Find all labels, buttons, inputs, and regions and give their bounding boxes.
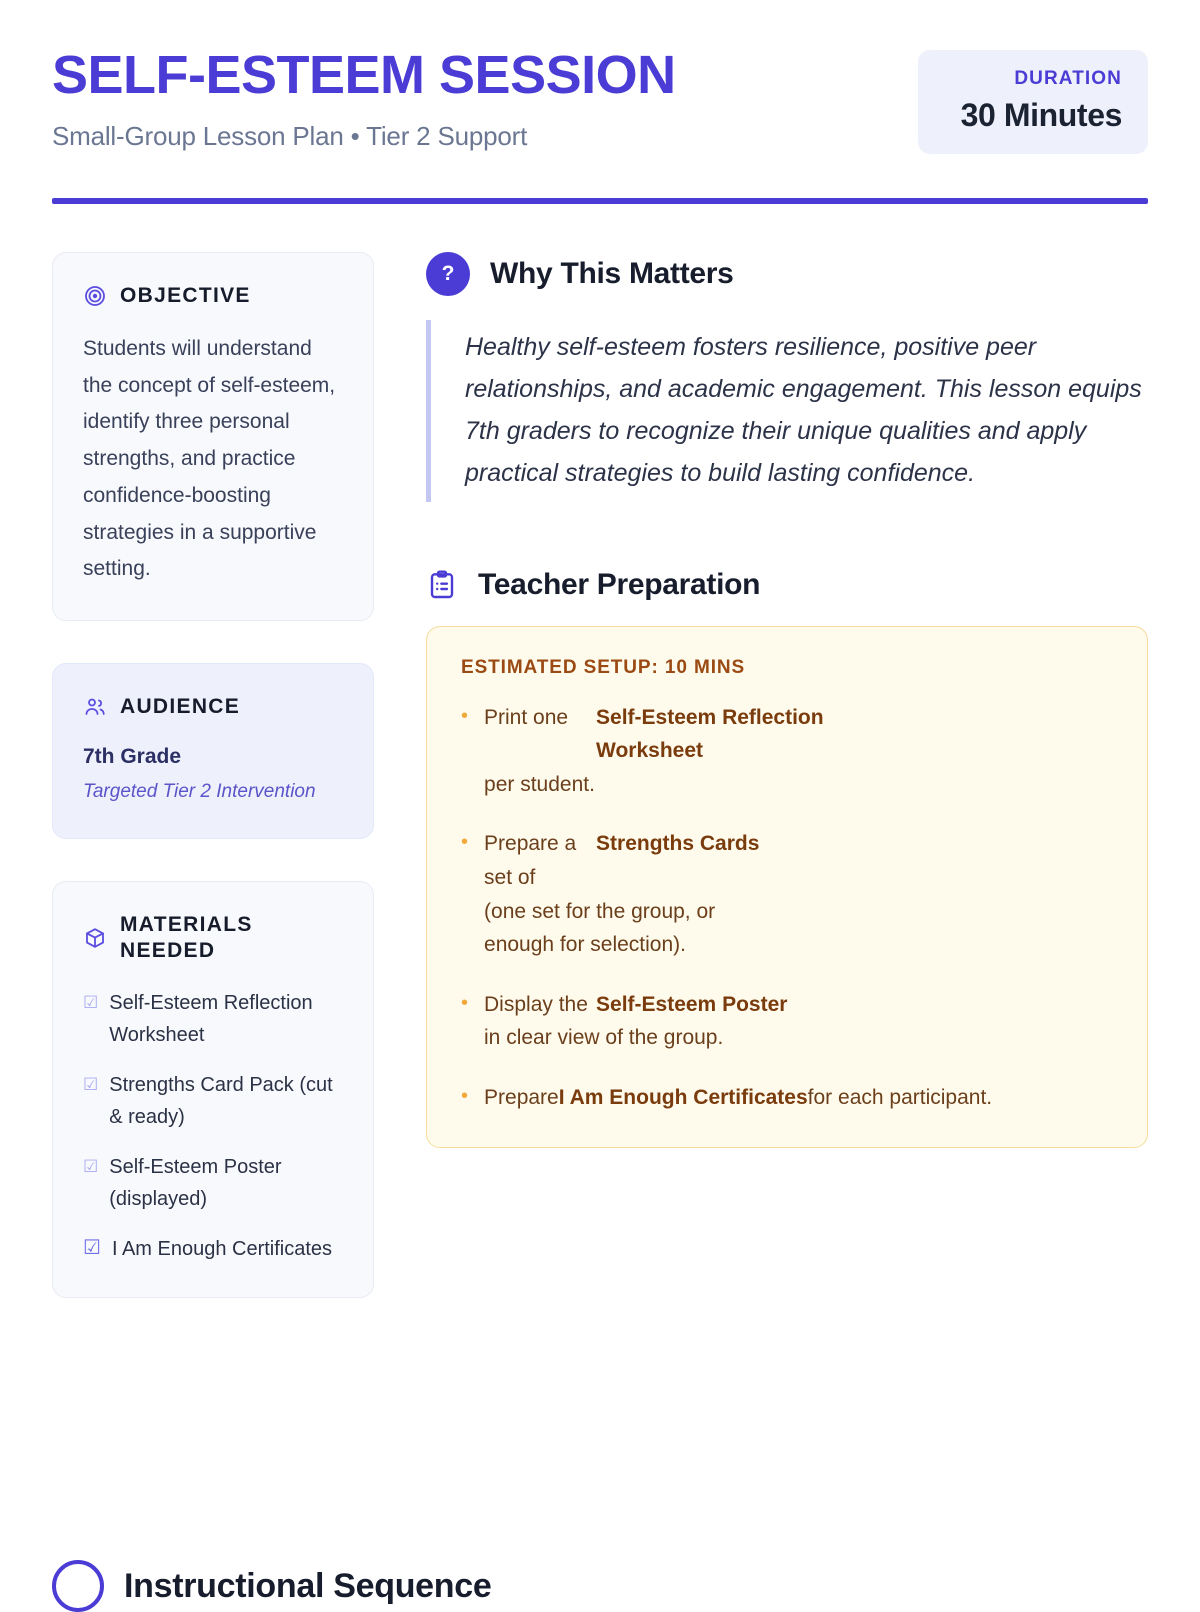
list-item: • Prepare a set ofStrengths Cards(one se… xyxy=(461,827,1113,961)
preparation-text: Prepare a set ofStrengths Cards(one set … xyxy=(484,827,1113,961)
duration-label: DURATION xyxy=(944,68,1122,91)
step-number-icon xyxy=(52,1560,104,1612)
audience-card-title: AUDIENCE xyxy=(120,694,240,720)
audience-note: Targeted Tier 2 Intervention xyxy=(83,778,343,807)
audience-card: AUDIENCE 7th Grade Targeted Tier 2 Inter… xyxy=(52,663,374,839)
target-icon xyxy=(83,284,107,308)
materials-list: ☑ Self-Esteem Reflection Worksheet ☑ Str… xyxy=(83,987,343,1265)
material-label: Self-Esteem Reflection Worksheet xyxy=(109,987,343,1051)
question-mark-icon: ? xyxy=(426,252,470,296)
preparation-text: PrepareI Am Enough Certificatesfor each … xyxy=(484,1081,1113,1115)
checkbox-checked-icon: ☑ xyxy=(83,1069,98,1100)
prep-strong: I Am Enough Certificates xyxy=(559,1086,808,1109)
list-item: • Display theSelf-Esteem Posterin clear … xyxy=(461,988,1113,1055)
users-icon xyxy=(83,695,107,719)
clipboard-list-icon xyxy=(426,569,458,601)
prep-strong: Strengths Cards xyxy=(596,827,824,861)
list-item: ☑ Self-Esteem Poster (displayed) xyxy=(83,1151,343,1215)
material-label: Strengths Card Pack (cut & ready) xyxy=(109,1069,343,1133)
objective-text: Students will understand the concept of … xyxy=(83,331,343,588)
prep-prefix: Prepare xyxy=(484,1086,559,1109)
list-item: • Print oneSelf-Esteem Reflection Worksh… xyxy=(461,701,1113,802)
instructional-sequence-header: Instructional Sequence xyxy=(52,1560,491,1612)
material-label: Self-Esteem Poster (displayed) xyxy=(109,1151,343,1215)
audience-card-header: AUDIENCE xyxy=(83,694,343,720)
preparation-list: • Print oneSelf-Esteem Reflection Worksh… xyxy=(461,701,1113,1115)
page-header: SELF-ESTEEM SESSION Small-Group Lesson P… xyxy=(52,44,1148,154)
lesson-plan-page: SELF-ESTEEM SESSION Small-Group Lesson P… xyxy=(0,0,1200,1600)
teacher-preparation-title: Teacher Preparation xyxy=(478,568,760,602)
checkbox-checked-icon: ☑ xyxy=(83,1233,101,1264)
duration-badge: DURATION 30 Minutes xyxy=(918,50,1148,154)
sidebar-column: OBJECTIVE Students will understand the c… xyxy=(52,252,374,1340)
bullet-icon: • xyxy=(461,827,468,858)
teacher-preparation-box: ESTIMATED SETUP: 10 MINS • Print oneSelf… xyxy=(426,626,1148,1148)
list-item: • PrepareI Am Enough Certificatesfor eac… xyxy=(461,1081,1113,1115)
teacher-preparation-header: Teacher Preparation xyxy=(426,568,1148,602)
prep-suffix: for each participant. xyxy=(808,1086,992,1109)
list-item: ☑ I Am Enough Certificates xyxy=(83,1233,343,1265)
why-this-matters-header: ? Why This Matters xyxy=(426,252,1148,296)
bullet-icon: • xyxy=(461,988,468,1019)
duration-value: 30 Minutes xyxy=(944,97,1122,134)
header-text-group: SELF-ESTEEM SESSION Small-Group Lesson P… xyxy=(52,44,676,152)
objective-card: OBJECTIVE Students will understand the c… xyxy=(52,252,374,622)
preparation-text: Display theSelf-Esteem Posterin clear vi… xyxy=(484,988,1113,1055)
materials-card-title: MATERIALS NEEDED xyxy=(120,912,343,965)
materials-card-header: MATERIALS NEEDED xyxy=(83,912,343,965)
materials-card: MATERIALS NEEDED ☑ Self-Esteem Reflectio… xyxy=(52,881,374,1298)
checkbox-checked-icon: ☑ xyxy=(83,1151,98,1182)
setup-estimate-label: ESTIMATED SETUP: 10 MINS xyxy=(461,657,1113,679)
header-divider xyxy=(52,198,1148,204)
preparation-text: Print oneSelf-Esteem Reflection Workshee… xyxy=(484,701,1113,802)
bullet-icon: • xyxy=(461,701,468,732)
page-subtitle: Small-Group Lesson Plan • Tier 2 Support xyxy=(52,121,676,152)
prep-prefix: Display the xyxy=(484,988,596,1022)
prep-prefix: Print one xyxy=(484,701,596,735)
package-icon xyxy=(83,926,107,950)
why-this-matters-quote: Healthy self-esteem fosters resilience, … xyxy=(426,320,1148,502)
objective-card-title: OBJECTIVE xyxy=(120,283,251,309)
checkbox-checked-icon: ☑ xyxy=(83,987,98,1018)
objective-card-header: OBJECTIVE xyxy=(83,283,343,309)
prep-suffix: per student. xyxy=(484,768,784,802)
content-grid: OBJECTIVE Students will understand the c… xyxy=(52,252,1148,1340)
bullet-icon: • xyxy=(461,1081,468,1112)
main-column: ? Why This Matters Healthy self-esteem f… xyxy=(426,252,1148,1148)
prep-strong: Self-Esteem Poster xyxy=(596,988,824,1022)
prep-suffix: (one set for the group, or enough for se… xyxy=(484,895,784,962)
page-title: SELF-ESTEEM SESSION xyxy=(52,48,676,103)
why-this-matters-title: Why This Matters xyxy=(490,257,734,291)
audience-grade: 7th Grade xyxy=(83,742,343,771)
list-item: ☑ Strengths Card Pack (cut & ready) xyxy=(83,1069,343,1133)
prep-strong: Self-Esteem Reflection Worksheet xyxy=(596,701,824,768)
prep-suffix: in clear view of the group. xyxy=(484,1021,784,1055)
list-item: ☑ Self-Esteem Reflection Worksheet xyxy=(83,987,343,1051)
prep-prefix: Prepare a set of xyxy=(484,827,596,894)
material-label: I Am Enough Certificates xyxy=(112,1233,332,1265)
